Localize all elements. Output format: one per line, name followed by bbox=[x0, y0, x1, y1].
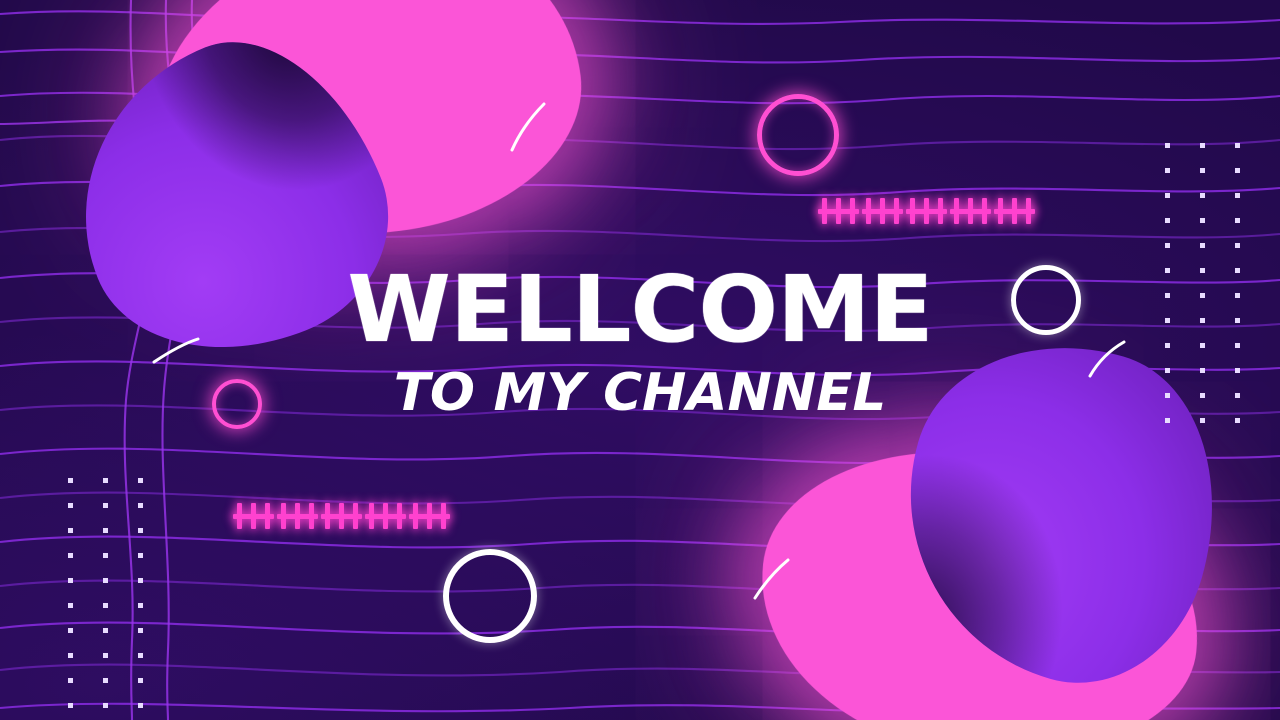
grid-dot bbox=[103, 653, 108, 658]
grid-dot bbox=[138, 653, 143, 658]
grid-dot bbox=[68, 678, 73, 683]
grid-dot bbox=[68, 528, 73, 533]
tally-group bbox=[866, 198, 899, 224]
grid-dot bbox=[138, 553, 143, 558]
tally-group bbox=[369, 503, 402, 529]
grid-dot bbox=[1165, 168, 1170, 173]
grid-dot bbox=[1165, 143, 1170, 148]
tally-marks-top-right bbox=[822, 198, 1031, 224]
tally-marks-bottom-left bbox=[237, 503, 446, 529]
tally-group bbox=[237, 503, 270, 529]
grid-dot bbox=[103, 628, 108, 633]
tally-group bbox=[910, 198, 943, 224]
tally-group bbox=[413, 503, 446, 529]
white-ring-large-icon bbox=[443, 549, 537, 643]
grid-dot bbox=[138, 628, 143, 633]
grid-dot bbox=[1200, 168, 1205, 173]
grid-dot bbox=[103, 678, 108, 683]
grid-dot bbox=[1200, 243, 1205, 248]
grid-dot bbox=[1235, 243, 1240, 248]
grid-dot bbox=[68, 478, 73, 483]
grid-dot bbox=[1235, 168, 1240, 173]
grid-dot bbox=[1235, 418, 1240, 423]
grid-dot bbox=[103, 578, 108, 583]
welcome-banner-canvas: WELLCOME TO MY CHANNEL bbox=[0, 0, 1280, 720]
tally-group bbox=[281, 503, 314, 529]
page-title: WELLCOME bbox=[0, 268, 1280, 353]
grid-dot bbox=[1200, 218, 1205, 223]
grid-dot bbox=[1165, 218, 1170, 223]
grid-dot bbox=[1165, 243, 1170, 248]
grid-dot bbox=[103, 478, 108, 483]
grid-dot bbox=[1235, 143, 1240, 148]
grid-dot bbox=[138, 603, 143, 608]
grid-dot bbox=[1200, 193, 1205, 198]
grid-dot bbox=[103, 528, 108, 533]
grid-dot bbox=[103, 553, 108, 558]
grid-dot bbox=[103, 603, 108, 608]
grid-dot bbox=[1165, 418, 1170, 423]
grid-dot bbox=[68, 628, 73, 633]
grid-dot bbox=[138, 478, 143, 483]
grid-dot bbox=[138, 703, 143, 708]
tally-group bbox=[822, 198, 855, 224]
grid-dot bbox=[1165, 193, 1170, 198]
arc-top-left-icon bbox=[506, 100, 552, 156]
grid-dot bbox=[68, 703, 73, 708]
grid-dot bbox=[138, 678, 143, 683]
pink-ring-large-icon bbox=[757, 94, 839, 176]
dot-grid-left bbox=[68, 478, 143, 720]
grid-dot bbox=[138, 578, 143, 583]
grid-dot bbox=[1235, 218, 1240, 223]
grid-dot bbox=[138, 528, 143, 533]
grid-dot bbox=[1235, 193, 1240, 198]
grid-dot bbox=[1200, 418, 1205, 423]
arc-bottom-left-icon bbox=[750, 556, 792, 602]
grid-dot bbox=[1200, 143, 1205, 148]
tally-group bbox=[954, 198, 987, 224]
grid-dot bbox=[68, 578, 73, 583]
grid-dot bbox=[68, 553, 73, 558]
grid-dot bbox=[103, 503, 108, 508]
grid-dot bbox=[68, 653, 73, 658]
grid-dot bbox=[68, 603, 73, 608]
headline-block: WELLCOME TO MY CHANNEL bbox=[0, 268, 1280, 419]
tally-group bbox=[325, 503, 358, 529]
grid-dot bbox=[138, 503, 143, 508]
page-subtitle: TO MY CHANNEL bbox=[0, 367, 1280, 419]
tally-group bbox=[998, 198, 1031, 224]
grid-dot bbox=[103, 703, 108, 708]
grid-dot bbox=[68, 503, 73, 508]
